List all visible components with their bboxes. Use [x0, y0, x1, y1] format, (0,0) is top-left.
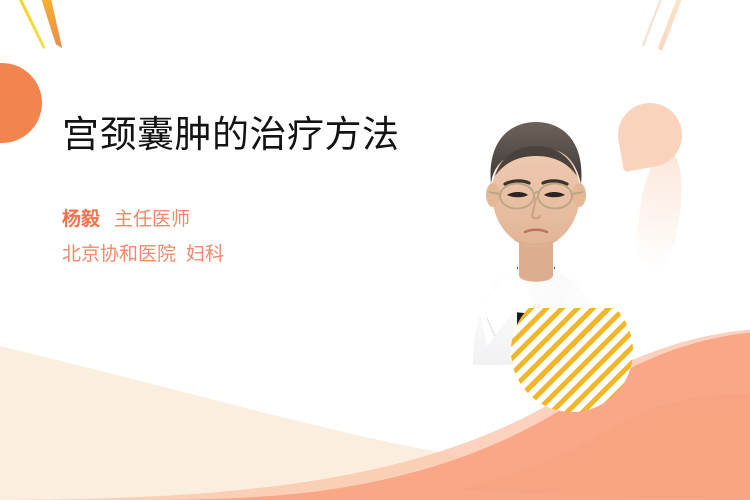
- doctor-info-card: 宫颈囊肿的治疗方法 杨毅主任医师 北京协和医院妇科: [0, 0, 750, 500]
- doctor-name-row: 杨毅主任医师: [62, 210, 412, 229]
- striped-half-circle-decoration: [511, 290, 633, 412]
- card-text-block: 宫颈囊肿的治疗方法 杨毅主任医师 北京协和医院妇科: [62, 114, 412, 264]
- stroke-yellow-top-left-decoration: [13, 0, 46, 49]
- wave-salmon-bottom-decoration: [0, 325, 750, 500]
- doctor-hospital-row: 北京协和医院妇科: [62, 245, 412, 264]
- stroke-peach-top-right-b-decoration: [657, 0, 683, 51]
- wave-cream-bottom-decoration: [0, 300, 750, 500]
- hospital-name: 北京协和医院: [62, 243, 176, 265]
- petal-tail-right-decoration: [632, 148, 688, 272]
- circle-left-decoration: [0, 63, 42, 143]
- doctor-portrait: [443, 80, 628, 365]
- doctor-name: 杨毅: [62, 208, 100, 230]
- doctor-title: 主任医师: [114, 208, 190, 230]
- page-title: 宫颈囊肿的治疗方法: [62, 114, 412, 155]
- department-name: 妇科: [186, 243, 224, 265]
- stroke-peach-top-right-a-decoration: [642, 0, 666, 46]
- stroke-orange-top-left-decoration: [35, 0, 66, 51]
- wave-salmon-soft-decoration: [0, 310, 750, 500]
